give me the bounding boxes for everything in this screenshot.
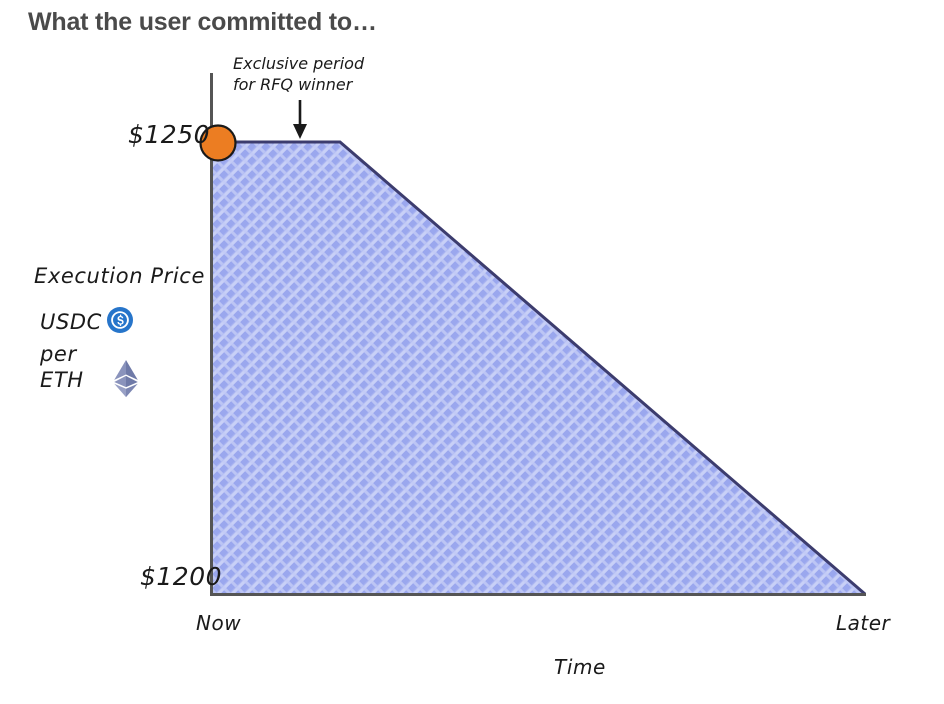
exclusive-period-annotation: Exclusive period for RFQ winner xyxy=(233,53,364,95)
committed-price-area xyxy=(212,142,865,594)
y-axis-unit-numerator: USDC xyxy=(40,310,102,334)
usdc-coin-icon xyxy=(107,307,133,337)
commitment-price-chart xyxy=(0,0,944,704)
annotation-line-2: for RFQ winner xyxy=(233,74,364,95)
y-axis-tick-lower: $1200 xyxy=(140,562,222,591)
x-axis-title: Time xyxy=(554,655,606,679)
y-axis-tick-upper: $1250 xyxy=(128,120,210,149)
y-axis-title: Execution Price xyxy=(34,264,205,288)
y-axis-unit-separator: per xyxy=(40,342,77,366)
x-axis-tick-later: Later xyxy=(836,611,890,635)
down-arrow-icon xyxy=(293,100,307,139)
annotation-line-1: Exclusive period xyxy=(233,53,364,74)
y-axis-unit-denominator: ETH xyxy=(40,368,84,392)
x-axis-tick-now: Now xyxy=(196,611,241,635)
ethereum-diamond-icon xyxy=(112,360,140,402)
